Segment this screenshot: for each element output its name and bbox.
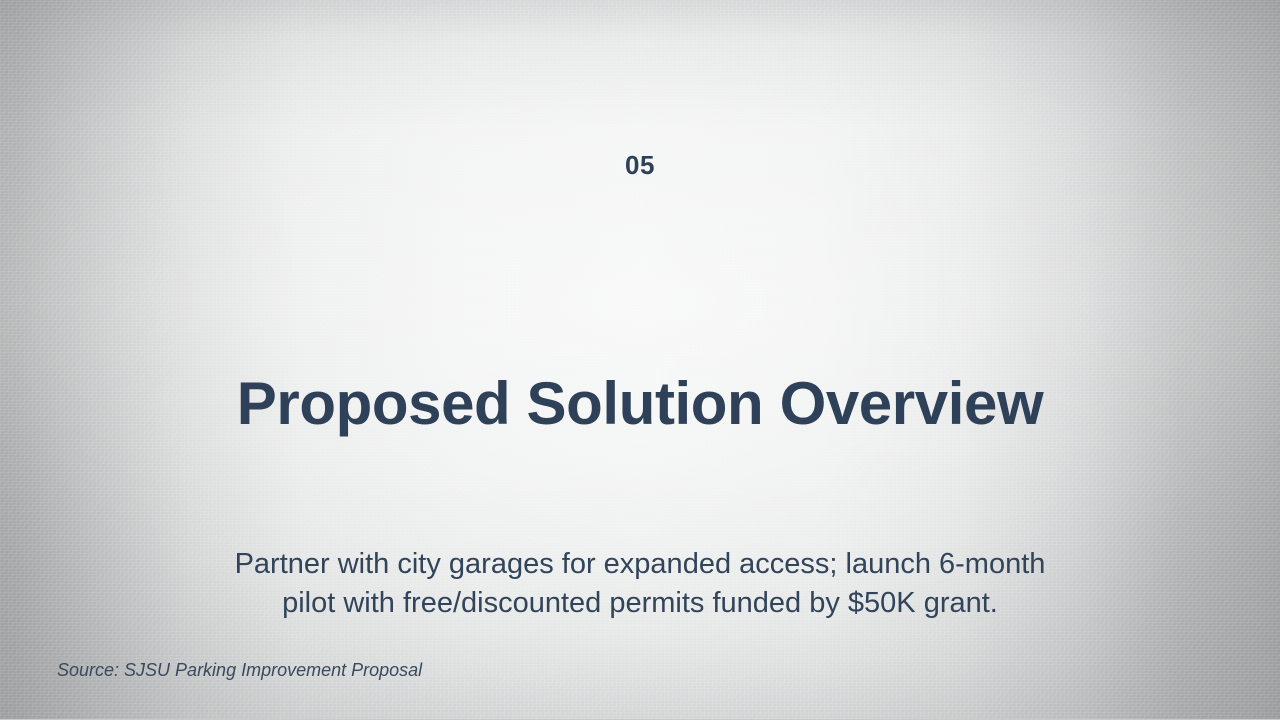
slide-number: 05	[0, 150, 1280, 181]
slide-title: Proposed Solution Overview	[140, 369, 1140, 439]
slide-body-text: Partner with city garages for expanded a…	[234, 545, 1046, 623]
slide-content: 05 Proposed Solution Overview Partner wi…	[0, 0, 1280, 719]
presentation-slide: 05 Proposed Solution Overview Partner wi…	[0, 0, 1280, 720]
slide-source-attribution: Source: SJSU Parking Improvement Proposa…	[57, 658, 422, 682]
